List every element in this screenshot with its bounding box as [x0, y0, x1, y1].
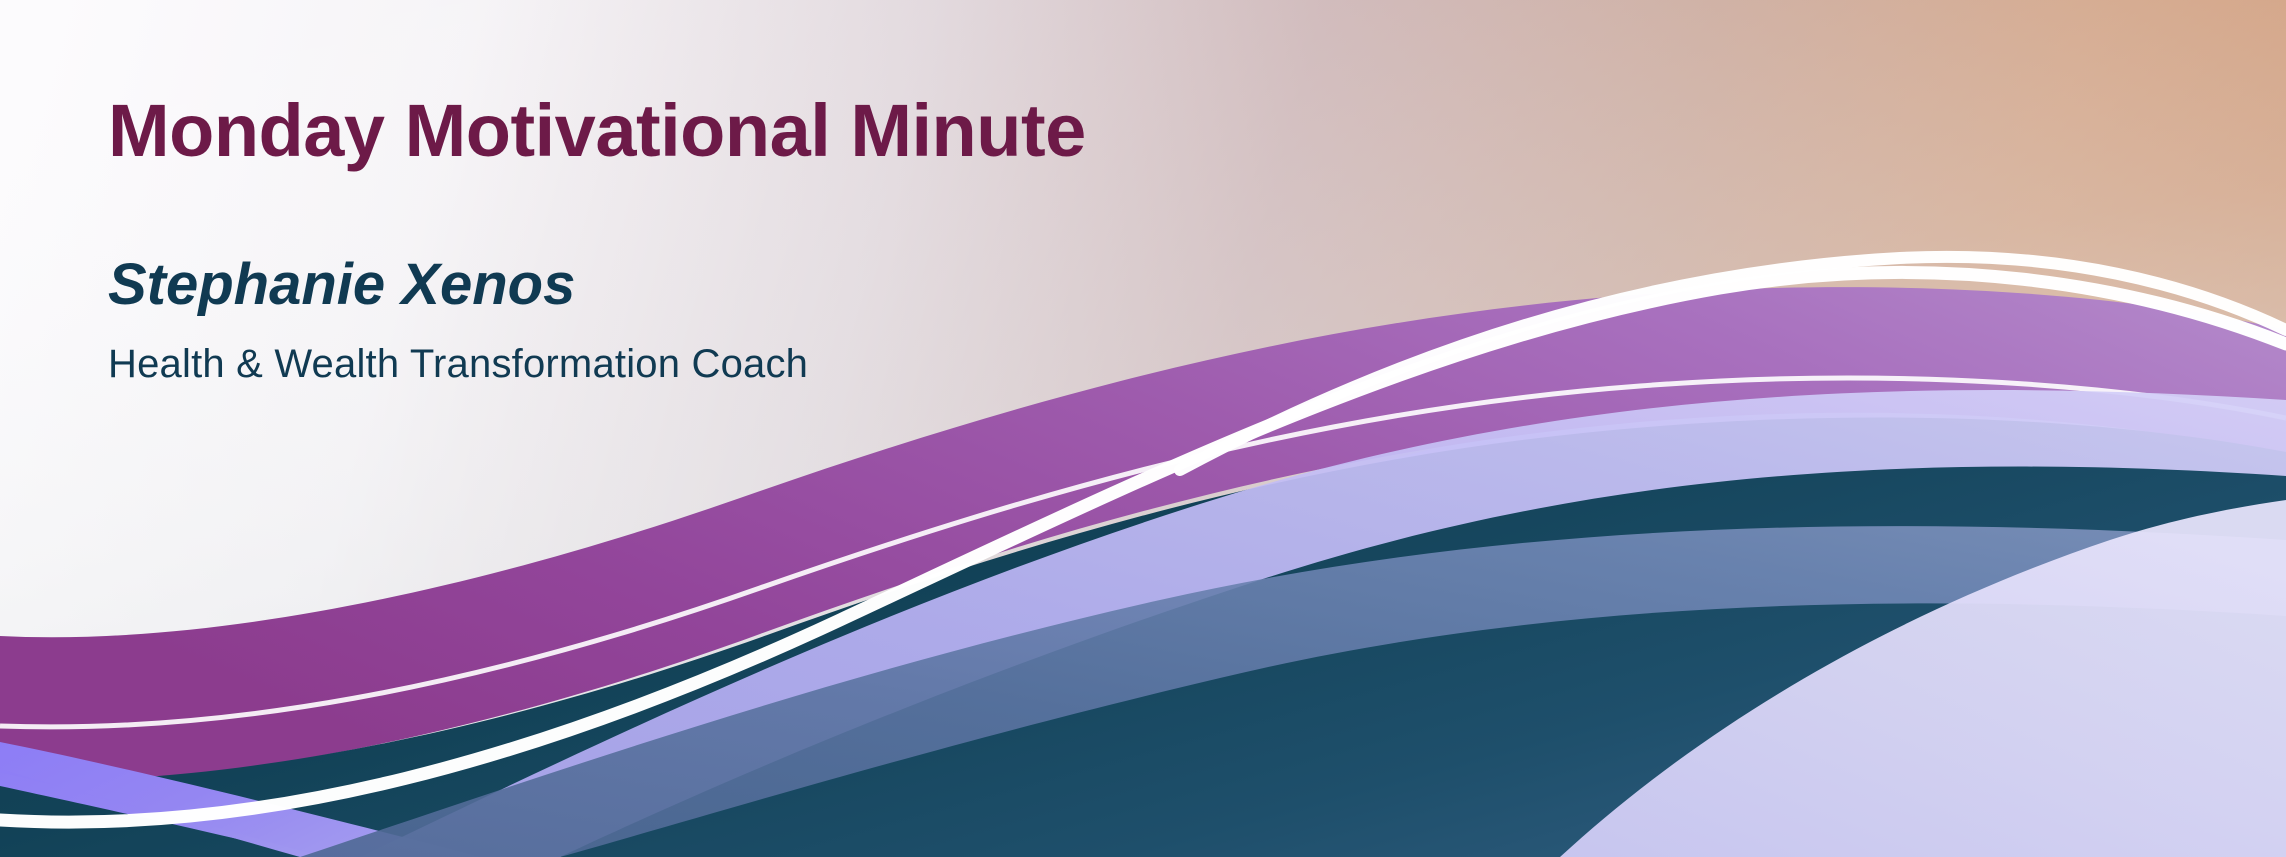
- presenter-name: Stephanie Xenos: [108, 256, 1308, 314]
- page-title: Monday Motivational Minute: [108, 94, 1308, 168]
- monday-motivational-minute-banner: Monday Motivational Minute Stephanie Xen…: [0, 0, 2286, 857]
- presenter-tagline: Health & Wealth Transformation Coach: [108, 344, 1308, 384]
- banner-text-block: Monday Motivational Minute Stephanie Xen…: [108, 94, 1308, 384]
